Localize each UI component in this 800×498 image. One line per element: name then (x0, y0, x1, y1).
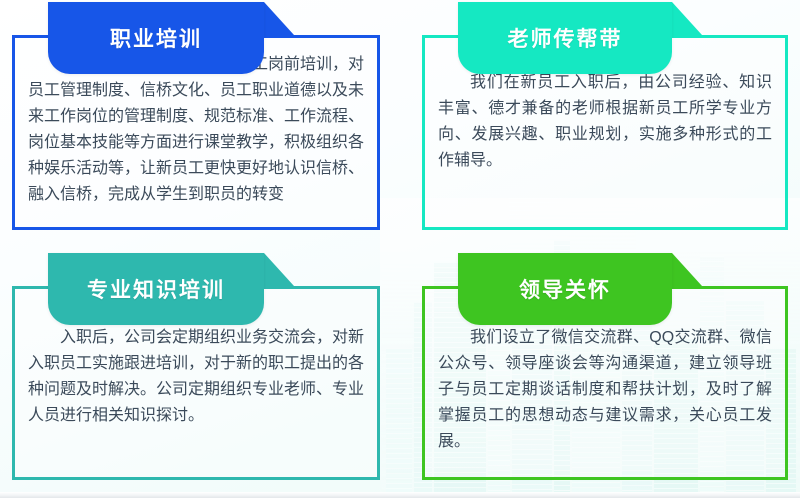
card-career-training: 职业培训 我们量身定制初入职场新员工岗前培训，对员工管理制度、信桥文化、员工职业… (12, 2, 380, 230)
card-body-text: 我们在新员工入职后，由公司经验、知识丰富、德才兼备的老师根据新员工所学专业方向、… (438, 70, 772, 174)
card-mentor-program: 老师传帮带 我们在新员工入职后，由公司经验、知识丰富、德才兼备的老师根据新员工所… (422, 2, 788, 230)
card-ribbon: 专业知识培训 (48, 253, 264, 325)
card-ribbon: 职业培训 (48, 2, 264, 74)
card-title: 专业知识培训 (87, 274, 225, 304)
card-ribbon: 领导关怀 (458, 253, 672, 325)
card-top-border (264, 286, 380, 289)
bottom-edge-bar (0, 492, 800, 498)
card-ribbon: 老师传帮带 (458, 2, 672, 74)
card-title: 职业培训 (110, 23, 202, 53)
card-title: 老师传帮带 (508, 23, 623, 53)
card-leadership-care: 领导关怀 我们设立了微信交流群、QQ交流群、微信公众号、领导座谈会等沟通渠道，建… (422, 253, 788, 480)
card-top-border (672, 286, 788, 289)
ribbon-fold-icon (672, 253, 702, 286)
card-body-text: 我们设立了微信交流群、QQ交流群、微信公众号、领导座谈会等沟通渠道，建立领导班子… (438, 325, 772, 455)
card-top-border (264, 35, 380, 38)
ribbon-fold-icon (264, 253, 294, 286)
card-top-border (672, 35, 788, 38)
infographic-canvas: 职业培训 我们量身定制初入职场新员工岗前培训，对员工管理制度、信桥文化、员工职业… (0, 0, 800, 498)
ribbon-fold-icon (672, 2, 702, 35)
ribbon-fold-icon (264, 2, 294, 35)
card-body-text: 我们量身定制初入职场新员工岗前培训，对员工管理制度、信桥文化、员工职业道德以及未… (28, 52, 364, 208)
card-title: 领导关怀 (519, 274, 611, 304)
card-professional-knowledge-training: 专业知识培训 入职后，公司会定期组织业务交流会，对新入职员工实施跟进培训，对于新… (12, 253, 380, 480)
card-body-text: 入职后，公司会定期组织业务交流会，对新入职员工实施跟进培训，对于新的职工提出的各… (28, 325, 364, 429)
